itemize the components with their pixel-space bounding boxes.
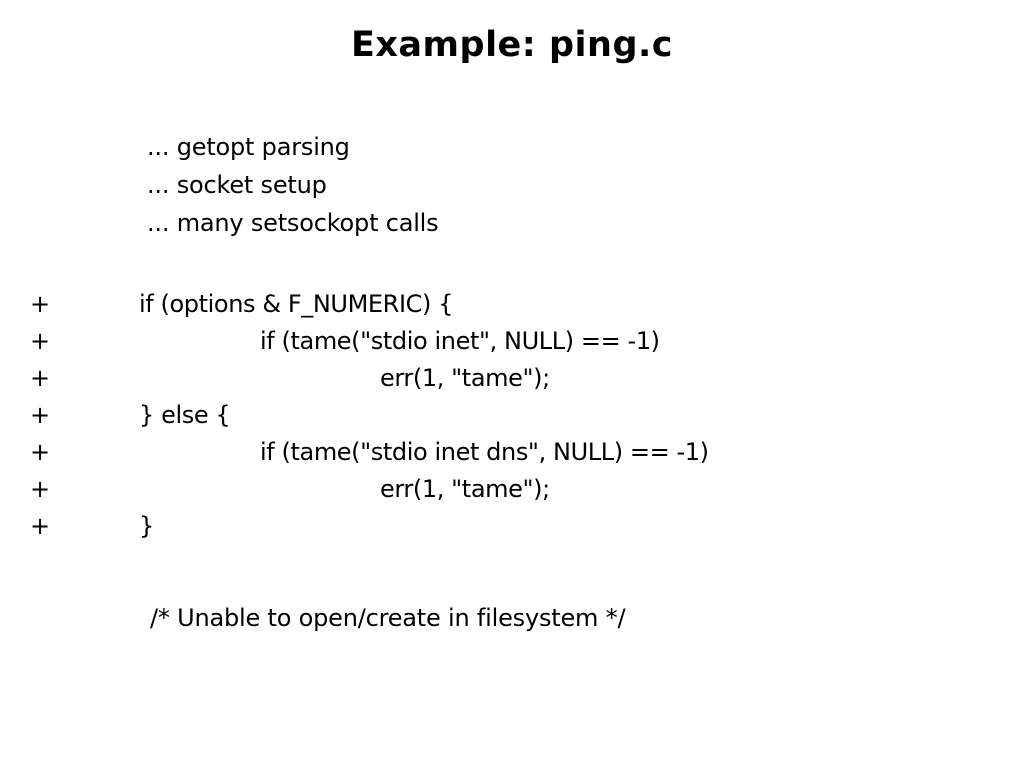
diff-add-marker: + [30,288,54,321]
code-line-text: if (tame("stdio inet", NULL) == -1) [260,325,660,358]
code-line: + if (tame("stdio inet", NULL) == -1) [0,325,1024,362]
intro-line: ... many setsockopt calls [147,204,967,242]
code-line: + } [0,510,1024,547]
code-line: + if (tame("stdio inet dns", NULL) == -1… [0,436,1024,473]
code-line-text: if (options & F_NUMERIC) { [139,288,453,321]
code-line-text: } [139,510,154,543]
code-line-text: } else { [139,399,230,432]
code-line-text: err(1, "tame"); [380,362,550,395]
code-line: + err(1, "tame"); [0,362,1024,399]
page-title: Example: ping.c [0,24,1024,66]
intro-line: ... socket setup [147,166,967,204]
comment-text-block: /* Unable to open/create in filesystem *… [150,602,970,635]
diff-add-marker: + [30,436,54,469]
intro-text-block: ... getopt parsing ... socket setup ... … [147,128,967,242]
code-line-text: err(1, "tame"); [380,473,550,506]
diff-add-marker: + [30,473,54,506]
code-line: + if (options & F_NUMERIC) { [0,288,1024,325]
code-line-text: if (tame("stdio inet dns", NULL) == -1) [260,436,709,469]
diff-add-marker: + [30,399,54,432]
code-diff-block: + if (options & F_NUMERIC) { + if (tame(… [0,288,1024,547]
diff-add-marker: + [30,362,54,395]
diff-add-marker: + [30,510,54,543]
code-line: + } else { [0,399,1024,436]
comment-line: /* Unable to open/create in filesystem *… [150,602,970,635]
code-line: + err(1, "tame"); [0,473,1024,510]
diff-add-marker: + [30,325,54,358]
slide-canvas: Example: ping.c ... getopt parsing ... s… [0,0,1024,768]
intro-line: ... getopt parsing [147,128,967,166]
